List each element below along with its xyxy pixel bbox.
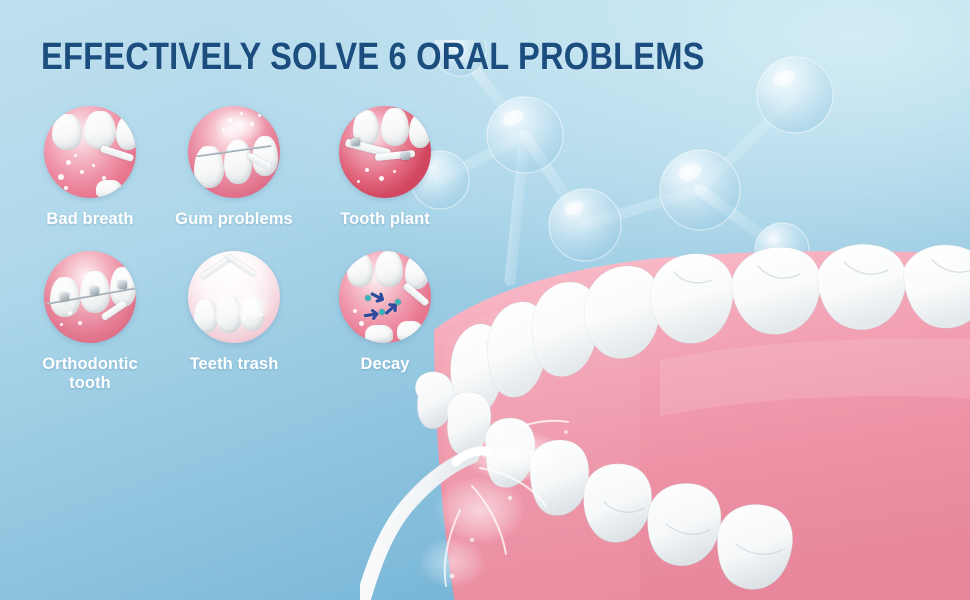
braces-bracket-icon [44, 251, 136, 343]
poster-canvas: EFFECTIVELY SOLVE 6 ORAL PROBLEMS [0, 0, 970, 600]
feature-label: Bad breath [46, 210, 133, 229]
feature-decay[interactable]: ➜ ➜ ➜ Decay [310, 251, 460, 374]
water-jet-splash [418, 421, 568, 588]
gum-teeth-spray-icon [44, 106, 136, 198]
feature-gum-problems[interactable]: Gum problems [158, 106, 310, 229]
gum-splash-icon [188, 106, 280, 198]
page-title: EFFECTIVELY SOLVE 6 ORAL PROBLEMS [41, 35, 705, 79]
feature-teeth-trash[interactable]: Teeth trash [158, 251, 310, 374]
molecule-glass-balls-graphic [400, 40, 970, 340]
feature-label: Decay [360, 355, 409, 374]
feature-row-1: Bad breath Gum probl [22, 106, 462, 229]
feature-label: Gum problems [175, 210, 293, 229]
feature-grid: Bad breath Gum probl [22, 106, 462, 393]
feature-label: Tooth plant [340, 210, 430, 229]
feature-label: Teeth trash [190, 355, 279, 374]
feature-row-2: Orthodontic tooth Teeth trash [22, 251, 462, 393]
water-flosser-nozzle [360, 451, 488, 600]
feature-orthodontic-tooth[interactable]: Orthodontic tooth [22, 251, 158, 393]
nozzle-debris-icon [188, 251, 280, 343]
feature-tooth-plant[interactable]: Tooth plant [310, 106, 460, 229]
decay-arrows-icon: ➜ ➜ ➜ [339, 251, 431, 343]
tooth-implant-nozzle-icon [339, 106, 431, 198]
feature-label: Orthodontic tooth [42, 355, 138, 393]
feature-bad-breath[interactable]: Bad breath [22, 106, 158, 229]
